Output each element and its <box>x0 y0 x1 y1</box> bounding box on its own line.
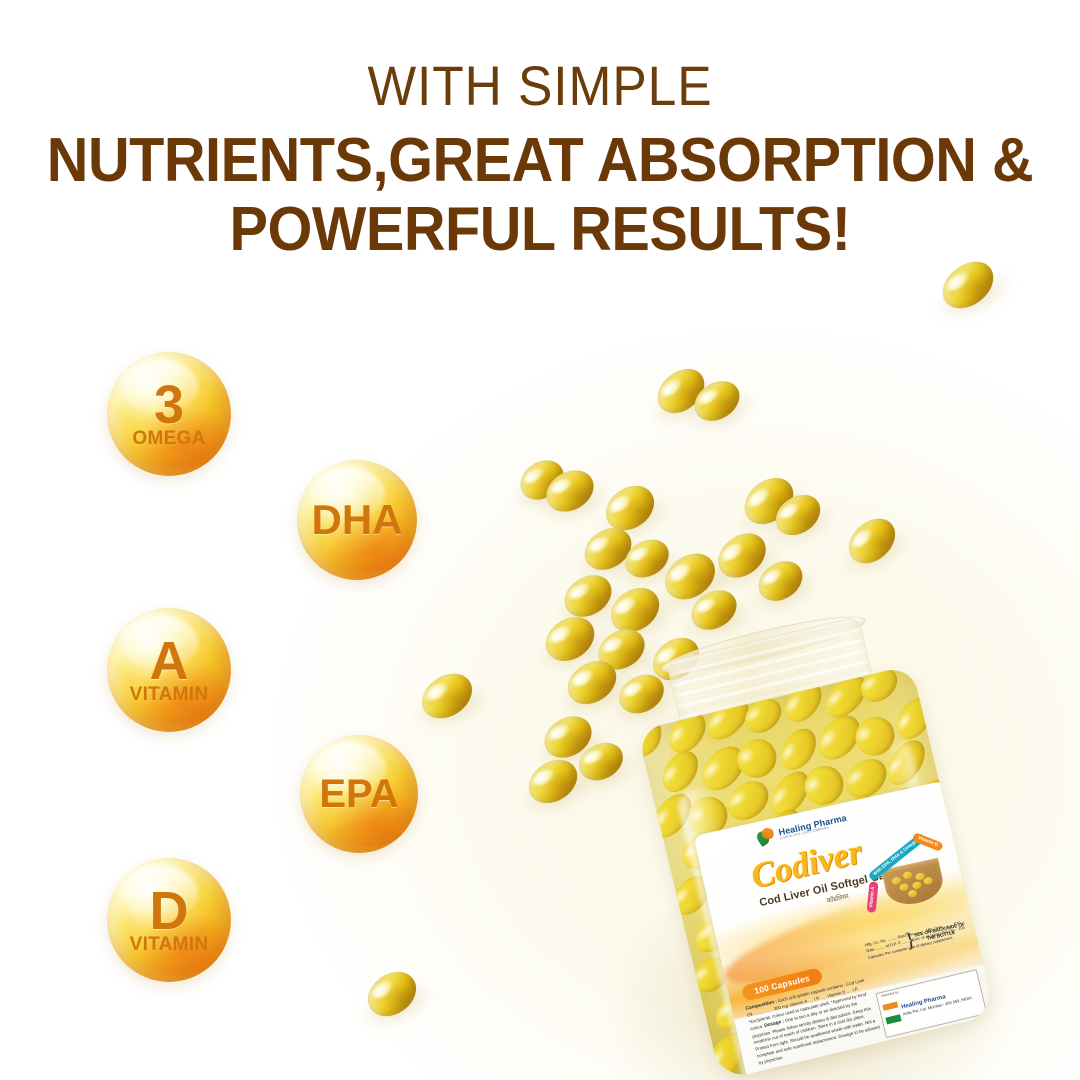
manufacturer-prefix: Marketed by : <box>881 990 901 998</box>
badge-main-label: D <box>150 886 189 937</box>
headline-line-1: WITH SIMPLE <box>43 58 1037 114</box>
bottle-body: Healing Pharma A HEALTHY LIFE COMPANY Co… <box>637 665 995 1080</box>
headline-line-3: POWERFUL RESULTS! <box>38 195 1042 264</box>
badge-main-label: DHA <box>312 500 403 540</box>
india-flag-icon <box>882 1002 901 1025</box>
badge-sub-label: VITAMIN <box>130 935 209 954</box>
bottle-capsule <box>890 691 939 745</box>
badge-main-label: EPA <box>319 775 398 813</box>
badge-sub-label: OMEGA <box>132 429 205 448</box>
headline-block: WITH SIMPLE NUTRIENTS,GREAT ABSORPTION &… <box>0 58 1080 265</box>
bottle-capsule <box>637 713 668 763</box>
headline-line-2: NUTRIENTS,GREAT ABSORPTION & <box>38 126 1042 195</box>
product-bottle: Healing Pharma A HEALTHY LIFE COMPANY Co… <box>612 576 1032 1080</box>
leaf-heart-logo-icon <box>754 827 777 849</box>
arc-badge-vitamin-d: Vitamin D <box>912 832 944 851</box>
poster-canvas: WITH SIMPLE NUTRIENTS,GREAT ABSORPTION &… <box>0 0 1080 1080</box>
nutrient-badge-vitamin-a: A VITAMIN <box>107 608 231 732</box>
nutrient-badge-vitamin-d: D VITAMIN <box>107 858 231 982</box>
badge-sub-label: VITAMIN <box>130 685 209 704</box>
nutrient-badge-omega: 3 OMEGA <box>107 352 231 476</box>
nutrient-badge-epa: EPA <box>300 735 418 853</box>
badge-main-label: A <box>150 636 189 687</box>
badge-main-label: 3 <box>154 380 184 431</box>
nutrient-badge-dha: DHA <box>297 460 417 580</box>
arc-badge-vitamin-a: Vitamin A <box>867 881 879 913</box>
